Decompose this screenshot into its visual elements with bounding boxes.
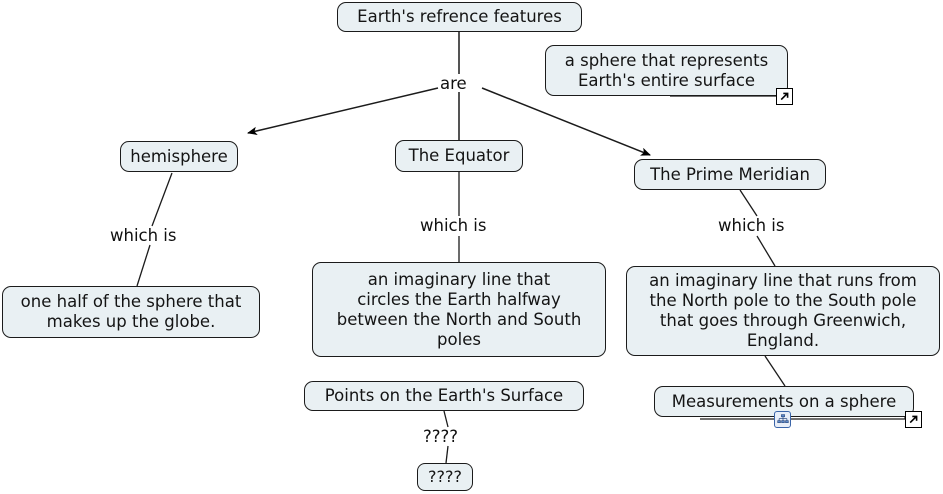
external-link-arrow-glyph (779, 91, 790, 102)
node-measurements-label: Measurements on a sphere (672, 392, 897, 412)
link-label-are-text: are (440, 74, 467, 93)
external-link-arrow-icon-measurements[interactable] (905, 411, 922, 428)
node-hemisphere-definition[interactable]: one half of the sphere that makes up the… (2, 286, 260, 338)
edge-meridian-to-whichis (740, 190, 757, 216)
link-label-are[interactable]: are (440, 74, 467, 93)
edge-whichis-to-hemisphere-def (137, 245, 150, 286)
node-hemisphere-definition-label: one half of the sphere that makes up the… (21, 292, 242, 332)
node-hemisphere[interactable]: hemisphere (120, 141, 238, 172)
node-root[interactable]: Earth's refrence features (337, 2, 582, 32)
edge-meridian-def-to-measurements (765, 356, 785, 386)
edge-layer (0, 0, 943, 494)
edge-hemisphere-to-whichis (152, 173, 172, 226)
node-points-on-surface[interactable]: Points on the Earth's Surface (304, 381, 584, 411)
edge-unknown-label-to-unknown-node (446, 446, 448, 463)
node-unknown[interactable]: ???? (417, 463, 473, 491)
edge-whichis-to-meridian-def (757, 236, 775, 266)
node-equator-definition-label: an imaginary line that circles the Earth… (337, 270, 582, 350)
link-label-which-is-hemisphere-text: which is (110, 226, 177, 245)
concept-map-icon[interactable] (774, 411, 791, 428)
node-sphere-definition[interactable]: a sphere that represents Earth's entire … (545, 45, 788, 96)
node-root-label: Earth's refrence features (357, 7, 562, 27)
concept-map-canvas: Earth's refrence features a sphere that … (0, 0, 943, 494)
node-equator-label: The Equator (409, 146, 510, 166)
node-meridian-definition-label: an imaginary line that runs from the Nor… (649, 271, 917, 351)
node-sphere-definition-label: a sphere that represents Earth's entire … (565, 51, 769, 91)
node-equator-definition[interactable]: an imaginary line that circles the Earth… (312, 262, 606, 357)
node-points-on-surface-label: Points on the Earth's Surface (325, 386, 563, 406)
external-link-arrow-glyph-measurements (908, 414, 919, 425)
node-hemisphere-label: hemisphere (130, 147, 228, 167)
link-label-which-is-meridian[interactable]: which is (718, 216, 785, 235)
link-label-which-is-equator[interactable]: which is (420, 216, 487, 235)
node-prime-meridian[interactable]: The Prime Meridian (634, 159, 826, 190)
link-label-which-is-hemisphere[interactable]: which is (110, 226, 177, 245)
node-unknown-label: ???? (428, 467, 462, 487)
concept-map-glyph (777, 414, 789, 426)
link-label-unknown[interactable]: ???? (423, 427, 458, 446)
link-label-which-is-meridian-text: which is (718, 216, 785, 235)
node-prime-meridian-label: The Prime Meridian (650, 165, 810, 185)
link-label-which-is-equator-text: which is (420, 216, 487, 235)
node-equator[interactable]: The Equator (395, 140, 523, 172)
link-label-unknown-text: ???? (423, 427, 458, 446)
edge-are-to-hemisphere (248, 88, 438, 133)
edge-points-to-unknown-label (444, 411, 448, 427)
external-link-arrow-icon[interactable] (776, 88, 793, 105)
node-meridian-definition[interactable]: an imaginary line that runs from the Nor… (626, 266, 940, 356)
